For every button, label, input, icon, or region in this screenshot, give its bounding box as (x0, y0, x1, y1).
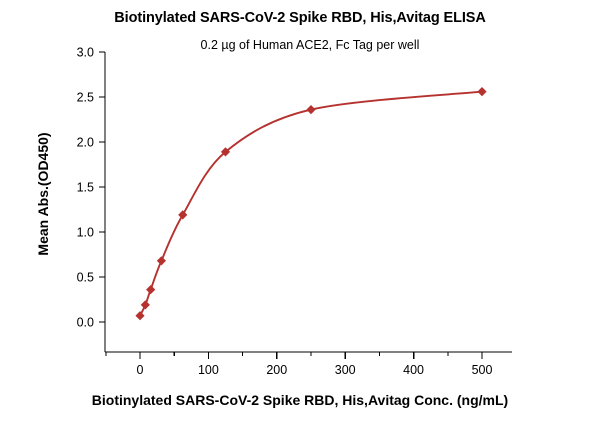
y-tick-label: 0.0 (77, 316, 94, 330)
y-tick-label: 1.0 (77, 226, 94, 240)
data-series-line (140, 92, 482, 316)
x-tick-label-group: 0100200300400500 (137, 363, 493, 377)
y-tick-label: 2.5 (77, 91, 94, 105)
data-point-marker (141, 300, 150, 309)
x-tick-label: 400 (403, 363, 424, 377)
y-tick-label: 3.0 (77, 46, 94, 60)
data-point-marker (477, 87, 486, 96)
x-tick-label: 300 (335, 363, 356, 377)
data-point-marker (306, 105, 315, 114)
data-point-marker (157, 256, 166, 265)
y-tick-label-group: 0.00.51.01.52.02.53.0 (77, 46, 94, 330)
x-tick-label: 500 (472, 363, 493, 377)
x-tick-label: 200 (266, 363, 287, 377)
x-tick-label: 100 (198, 363, 219, 377)
y-tick-label: 0.5 (77, 271, 94, 285)
chart-figure: Biotinylated SARS-CoV-2 Spike RBD, His,A… (0, 0, 600, 421)
y-tick-label: 1.5 (77, 181, 94, 195)
data-point-marker (135, 311, 144, 320)
x-tick-label: 0 (137, 363, 144, 377)
data-point-marker (178, 210, 187, 219)
data-point-marker (146, 285, 155, 294)
plot-area: 0.00.51.01.52.02.53.0 0100200300400500 (0, 0, 600, 421)
y-tick-label: 2.0 (77, 136, 94, 150)
tick-mark-group (99, 52, 482, 359)
